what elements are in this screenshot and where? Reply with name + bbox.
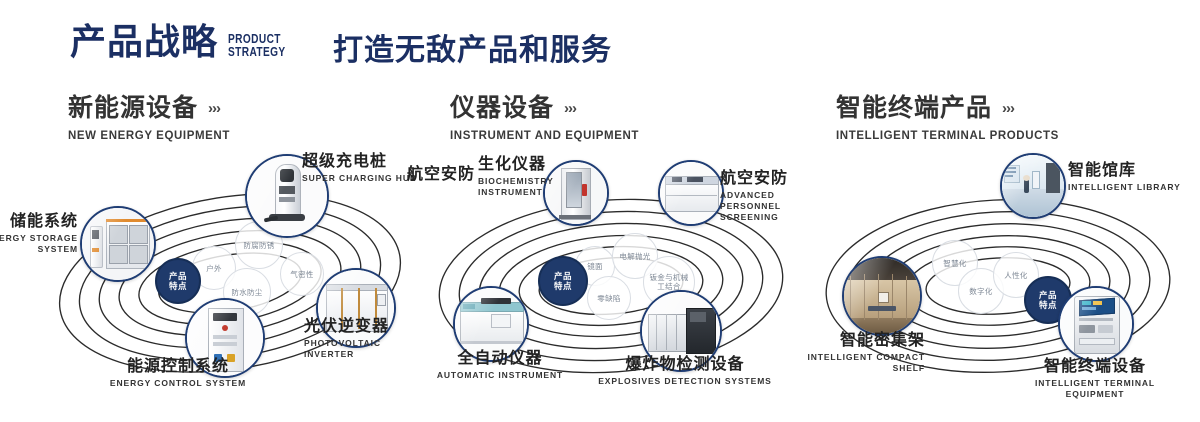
page-title: 产品战略 (70, 24, 218, 60)
core-bubble: 产品 特点 (538, 256, 588, 306)
node-photo-intelligent-library[interactable] (1000, 153, 1066, 219)
core-bubble-line1: 产品 (1039, 290, 1057, 300)
core-bubble-line2: 特点 (554, 281, 572, 291)
node-photo-intelligent-compact-shelf[interactable] (842, 256, 922, 336)
poster-canvas: 产品战略 PRODUCT STRATEGY 打造无敌产品和服务 新能源设备 ››… (0, 0, 1200, 422)
poster-header: 产品战略 PRODUCT STRATEGY (70, 24, 302, 60)
section-title-en: INSTRUMENT AND EQUIPMENT (450, 130, 639, 142)
section-title-instrument: 仪器设备 ››› INSTRUMENT AND EQUIPMENT (450, 96, 639, 142)
core-bubble-line1: 产品 (554, 271, 572, 281)
node-label-intelligent-terminal-equipment: 智能终端设备 INTELLIGENT TERMINAL EQUIPMENT (1005, 358, 1185, 400)
chevron-triple-icon: ››› (1002, 101, 1014, 116)
node-label-super-charging-hub: 超级充电桩 SUPER CHARGING HUB (302, 153, 417, 184)
node-label-explosives-detection: 爆炸物检测设备 EXPLOSIVES DETECTION SYSTEMS (585, 356, 785, 387)
node-label-intelligent-library: 智能馆库 INTELLIGENT LIBRARY (1068, 162, 1181, 193)
cluster-new-energy: 户外 防腐防锈 防水防尘 气密性 产品 特点 (30, 158, 430, 408)
cluster-intelligent-terminal: 智慧化 数字化 人性化 产品 特点 (800, 158, 1200, 408)
chevron-triple-icon: ››› (208, 101, 220, 116)
section-title-new-energy: 新能源设备 ››› NEW ENERGY EQUIPMENT (68, 96, 230, 142)
page-title-en: PRODUCT STRATEGY (228, 32, 286, 58)
core-bubble: 产品 特点 (155, 258, 201, 304)
core-bubble-line2: 特点 (1039, 300, 1057, 310)
node-photo-intelligent-terminal-equipment[interactable] (1058, 286, 1134, 362)
node-label-energy-storage: 储能系统 ENERGY STORAGE SYSTEM (0, 213, 78, 255)
node-label-aviation-security-left: 航空安防 (407, 166, 475, 184)
page-title-en-line2: STRATEGY (228, 45, 286, 58)
section-title-cn: 智能终端产品 (836, 96, 992, 121)
section-title-en: INTELLIGENT TERMINAL PRODUCTS (836, 130, 1059, 142)
chevron-triple-icon: ››› (564, 101, 576, 116)
page-slogan: 打造无敌产品和服务 (333, 36, 612, 66)
core-bubble-line2: 特点 (169, 281, 187, 291)
node-label-automatic-instrument: 全自动仪器 AUTOMATIC INSTRUMENT (405, 350, 595, 381)
section-title-cn: 仪器设备 (450, 96, 554, 121)
section-title-cn: 新能源设备 (68, 96, 198, 121)
cluster-instrument: 镜面 电解抛光 零缺陷 钣金与机械工结合 产品 特点 (415, 158, 815, 408)
node-label-energy-control-system: 能源控制系统 ENERGY CONTROL SYSTEM (58, 358, 298, 389)
feature-bubble: 零缺陷 (587, 276, 631, 320)
section-title-en: NEW ENERGY EQUIPMENT (68, 130, 230, 142)
node-label-intelligent-compact-shelf: 智能密集架 INTELLIGENT COMPACT SHELF (780, 332, 925, 374)
node-photo-advanced-personnel-screening[interactable] (658, 160, 724, 226)
section-title-intelligent-terminal: 智能终端产品 ››› INTELLIGENT TERMINAL PRODUCTS (836, 96, 1059, 142)
node-photo-energy-storage[interactable] (80, 206, 156, 282)
core-bubble-line1: 产品 (169, 271, 187, 281)
node-label-biochemistry-instrument: 生化仪器 BIOCHEMISTRY INSTRUMENT (478, 156, 564, 198)
